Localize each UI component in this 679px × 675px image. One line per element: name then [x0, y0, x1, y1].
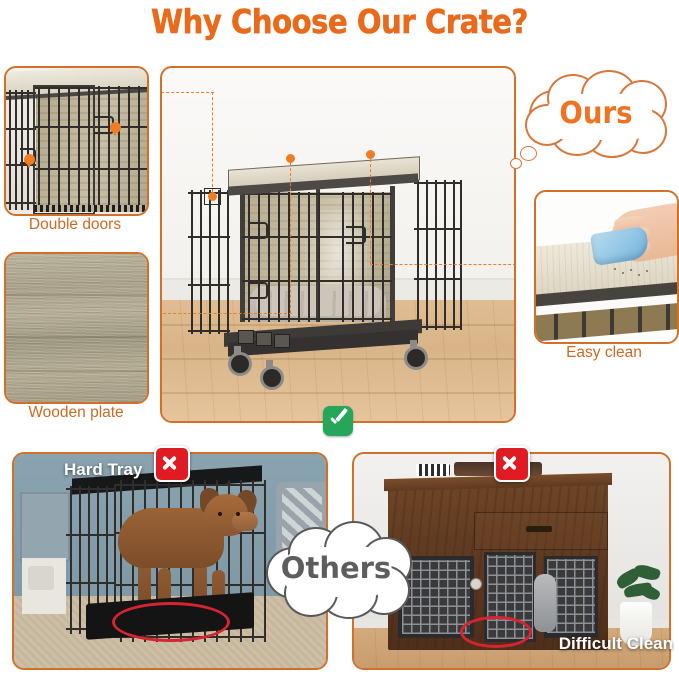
feature-card-easy-clean: [534, 190, 679, 344]
main-product-photo: [160, 66, 516, 423]
feature-card-double-doors: [4, 66, 149, 216]
dust-speck: [638, 274, 640, 276]
feature-card-wooden-plate: [4, 252, 149, 404]
cross-badge-left-icon: [154, 446, 190, 482]
background-shelf: [20, 492, 70, 562]
door-knob: [470, 578, 482, 590]
callout-dot-left-door: [208, 192, 217, 201]
crate-latch-lower-icon: [250, 282, 268, 299]
callout-line-vertical-right: [370, 159, 371, 264]
crate-caster-wheel: [228, 352, 252, 376]
drawer-handle: [526, 526, 552, 532]
feature-label-easy-clean: Easy clean: [528, 344, 679, 362]
callout-line-top-to-doubledoors: [160, 92, 214, 93]
dog-inside-crate: [534, 574, 556, 632]
dog-eye: [236, 512, 240, 516]
crate-base-slat: [238, 330, 254, 344]
callout-line-right-to-easyclean: [370, 264, 516, 265]
problem-highlight-ellipse: [460, 616, 532, 648]
dog-eye: [218, 512, 222, 516]
double-doors-marker-1: [110, 122, 121, 133]
dust-speck: [646, 270, 648, 272]
double-doors-marker-2: [24, 154, 35, 165]
others-thought-bubble: Others: [262, 521, 410, 617]
double-doors-right-wire-grid: [34, 86, 149, 212]
callout-line-vertical-center: [290, 163, 291, 313]
infographic-root: Why Choose Our Crate?: [0, 0, 679, 675]
check-badge-icon: [323, 406, 353, 436]
callout-line-vertical-left: [212, 92, 213, 192]
cross-badge-right-icon: [494, 446, 530, 482]
crate-latch-side-icon: [346, 226, 366, 244]
callout-line-bottom-to-woodenplate: [160, 313, 292, 314]
wooden-plate-texture: [6, 254, 147, 402]
page-title: Why Choose Our Crate?: [41, 2, 639, 41]
wood-grain-line: [6, 370, 147, 372]
callout-dot-top-right: [366, 150, 375, 159]
dust-speck: [630, 269, 632, 271]
crate-body: [228, 186, 418, 334]
wood-grain-line: [6, 336, 147, 338]
feature-label-wooden-plate: Wooden plate: [0, 404, 152, 422]
tabletop-books: [416, 464, 450, 476]
crate-latch-upper-icon: [250, 222, 268, 239]
ours-bubble-tail-small: [510, 158, 522, 169]
crate-base-slat: [256, 332, 272, 346]
problem-highlight-ellipse: [112, 602, 230, 642]
others-bubble-text: Others: [262, 551, 410, 585]
ours-bubble-tail-large: [520, 146, 537, 161]
crate-caster-wheel: [404, 346, 428, 370]
crate-open-right-door: [414, 180, 462, 330]
comparison-label-hard-tray: Hard Tray: [64, 460, 142, 480]
ours-thought-bubble: Ours: [523, 70, 669, 156]
dust-speck: [614, 268, 616, 270]
crate-caster-wheel: [260, 366, 284, 390]
double-doors-base-strip: [34, 205, 149, 212]
ours-bubble-text: Ours: [529, 96, 663, 131]
wood-grain-line: [6, 294, 147, 296]
callout-dot-top-center: [286, 154, 295, 163]
background-decor: [28, 566, 54, 590]
left-door-mesh: [402, 560, 470, 634]
feature-label-double-doors: Double doors: [0, 216, 150, 234]
comparison-label-difficult-clean: Difficult Clean: [559, 634, 673, 654]
crate-base-slat: [274, 334, 290, 348]
dust-speck: [622, 272, 624, 274]
